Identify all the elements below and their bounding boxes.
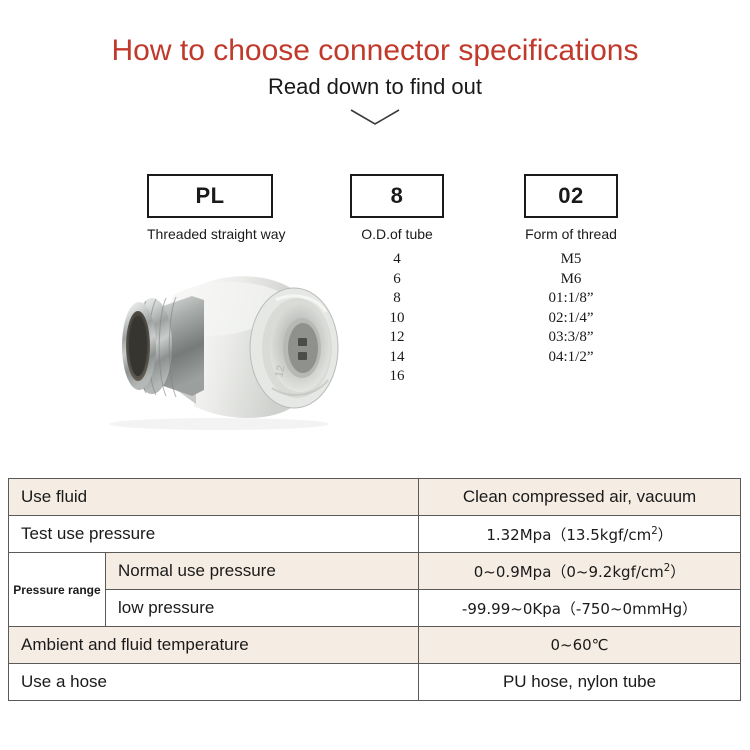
code-caption-tube-od: O.D.of tube — [350, 226, 444, 242]
table-row: Test use pressure 1.32Mpa（13.5kgf/cm2） — [9, 516, 741, 553]
code-value-tube-od: 8 — [391, 183, 404, 209]
list-item: 03:3/8” — [524, 328, 618, 348]
table-row: Ambient and fluid temperature 0~60℃ — [9, 627, 741, 664]
spec-rowhead-pressure-range: Pressure range — [9, 553, 106, 627]
code-box-tube-od: 8 — [350, 174, 444, 218]
spec-value-normal-use-pressure: 0~0.9Mpa（0~9.2kgf/cm2） — [419, 553, 741, 590]
table-row: low pressure -99.99~0Kpa（-750~0mmHg） — [9, 590, 741, 627]
elbow-fitting-illustration: 12 — [44, 266, 384, 436]
spec-value-use-fluid: Clean compressed air, vacuum — [419, 479, 741, 516]
spec-value-low-pressure: -99.99~0Kpa（-750~0mmHg） — [419, 590, 741, 627]
spec-label-normal-use-pressure: Normal use pressure — [106, 553, 419, 590]
code-caption-thread-form: Form of thread — [524, 226, 618, 242]
code-value-thread-form: 02 — [558, 183, 583, 209]
list-item: M6 — [524, 270, 618, 290]
code-caption-type: Threaded straight way — [147, 226, 273, 242]
page-header: How to choose connector specifications R… — [0, 34, 750, 127]
spec-label-test-use-pressure: Test use pressure — [9, 516, 419, 553]
code-box-type: PL — [147, 174, 273, 218]
spec-value-temperature: 0~60℃ — [419, 627, 741, 664]
svg-text:12: 12 — [273, 364, 287, 378]
chevron-down-icon — [345, 107, 405, 127]
list-item: 04:1/2” — [524, 348, 618, 368]
list-item: M5 — [524, 250, 618, 270]
spec-value-use-a-hose: PU hose, nylon tube — [419, 664, 741, 701]
spec-value-test-use-pressure: 1.32Mpa（13.5kgf/cm2） — [419, 516, 741, 553]
spec-label-use-a-hose: Use a hose — [9, 664, 419, 701]
table-row: Use a hose PU hose, nylon tube — [9, 664, 741, 701]
page-subtitle: Read down to find out — [0, 73, 750, 101]
code-box-thread-form: 02 — [524, 174, 618, 218]
specification-table: Use fluid Clean compressed air, vacuum T… — [8, 478, 741, 701]
page-title: How to choose connector specifications — [0, 34, 750, 68]
table-row: Pressure range Normal use pressure 0~0.9… — [9, 553, 741, 590]
code-value-type: PL — [195, 183, 224, 209]
list-item: 02:1/4” — [524, 309, 618, 329]
product-image: 12 — [44, 266, 384, 436]
code-column-type: PL Threaded straight way — [147, 174, 273, 250]
spec-label-temperature: Ambient and fluid temperature — [9, 627, 419, 664]
spec-label-low-pressure: low pressure — [106, 590, 419, 627]
table-row: Use fluid Clean compressed air, vacuum — [9, 479, 741, 516]
code-options-thread-form: M5M601:1/8”02:1/4”03:3/8”04:1/2” — [524, 250, 618, 367]
list-item: 01:1/8” — [524, 289, 618, 309]
spec-label-use-fluid: Use fluid — [9, 479, 419, 516]
code-column-thread-form: 02 Form of thread M5M601:1/8”02:1/4”03:3… — [524, 174, 618, 367]
